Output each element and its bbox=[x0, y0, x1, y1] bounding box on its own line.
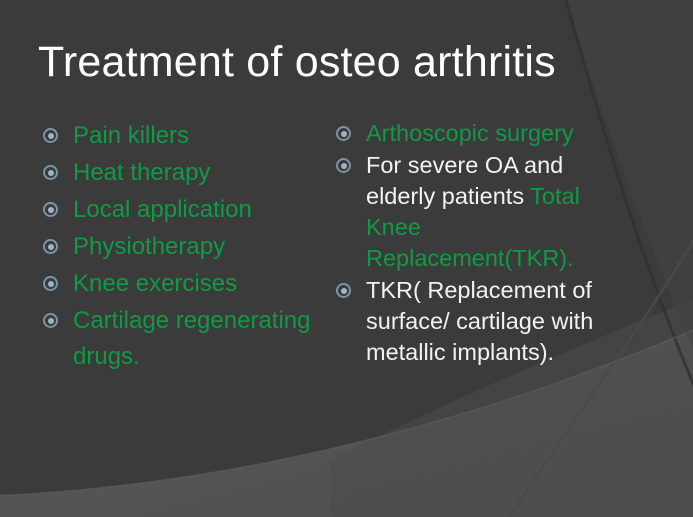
presentation-slide: Treatment of osteo arthritis Pain killer… bbox=[0, 0, 693, 517]
list-item-label: Arthoscopic surgery bbox=[366, 118, 633, 149]
list-item-label: TKR( Replacement of surface/ cartilage w… bbox=[366, 275, 633, 368]
list-item: TKR( Replacement of surface/ cartilage w… bbox=[333, 275, 633, 368]
list-item-label: Local application bbox=[73, 192, 330, 228]
target-bullet-icon bbox=[43, 276, 58, 291]
list-item-label: Heat therapy bbox=[73, 155, 330, 191]
bullet-column-left: Pain killers Heat therapy Local applicat… bbox=[40, 118, 330, 376]
list-item-label: For severe OA and elderly patients Total… bbox=[366, 150, 633, 274]
list-item: Cartilage regenerating drugs. bbox=[40, 303, 330, 375]
list-item: For severe OA and elderly patients Total… bbox=[333, 150, 633, 274]
list-item-label: Cartilage regenerating drugs. bbox=[73, 303, 330, 375]
list-item: Heat therapy bbox=[40, 155, 330, 191]
list-item: Arthoscopic surgery bbox=[333, 118, 633, 149]
list-item: Pain killers bbox=[40, 118, 330, 154]
page-title: Treatment of osteo arthritis bbox=[38, 36, 556, 88]
bullet-column-right: Arthoscopic surgery For severe OA and el… bbox=[333, 118, 633, 369]
target-bullet-icon bbox=[43, 128, 58, 143]
target-bullet-icon bbox=[43, 202, 58, 217]
list-item: Physiotherapy bbox=[40, 229, 330, 265]
list-item-label: Physiotherapy bbox=[73, 229, 330, 265]
list-item-segment: TKR( Replacement of surface/ cartilage w… bbox=[366, 277, 600, 365]
target-bullet-icon bbox=[336, 158, 351, 173]
target-bullet-icon bbox=[43, 165, 58, 180]
list-item-segment: Arthoscopic surgery bbox=[366, 120, 574, 146]
target-bullet-icon bbox=[336, 283, 351, 298]
list-item: Local application bbox=[40, 192, 330, 228]
target-bullet-icon bbox=[336, 126, 351, 141]
list-item: Knee exercises bbox=[40, 266, 330, 302]
target-bullet-icon bbox=[43, 313, 58, 328]
list-item-label: Pain killers bbox=[73, 118, 330, 154]
list-item-label: Knee exercises bbox=[73, 266, 330, 302]
target-bullet-icon bbox=[43, 239, 58, 254]
